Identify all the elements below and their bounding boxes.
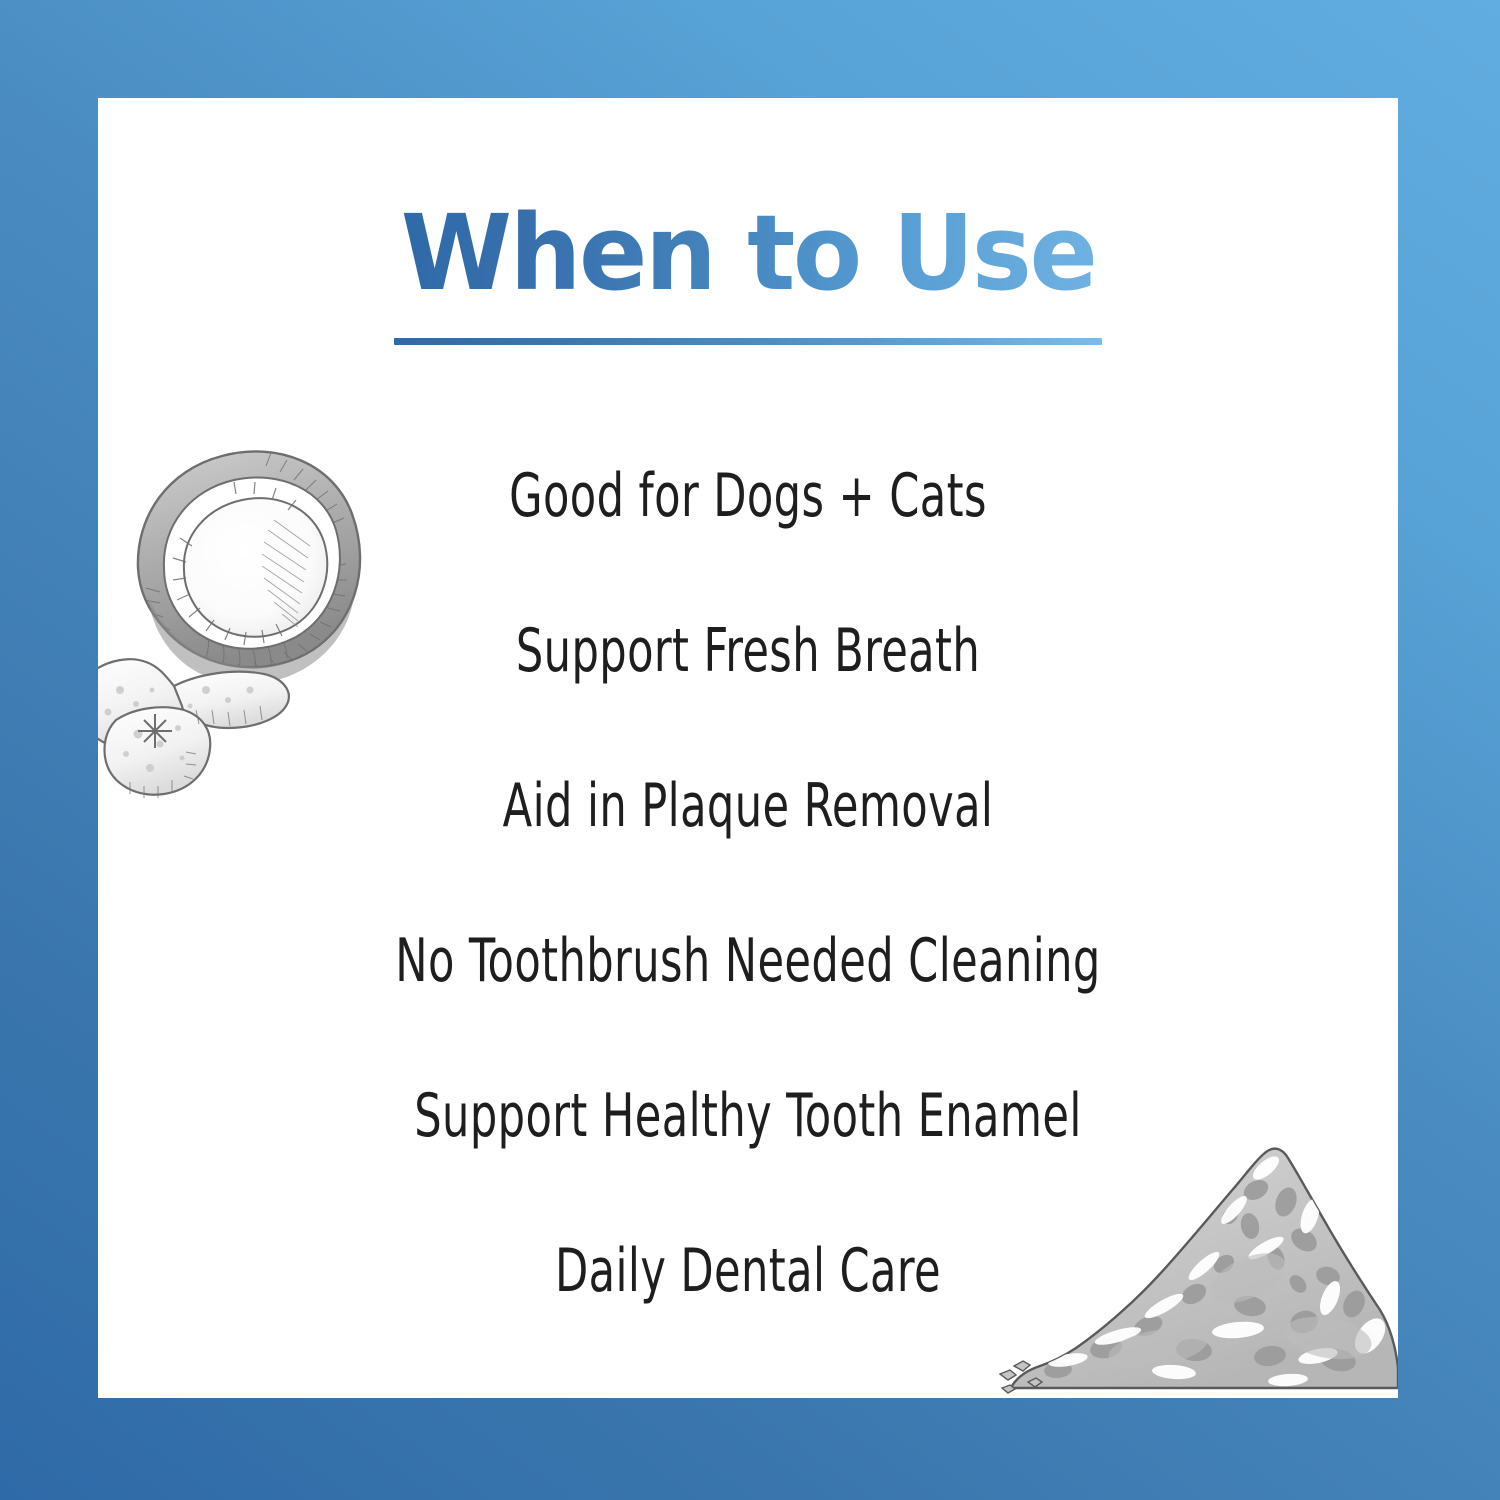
benefit-item-no-toothbrush-needed-cleaning: No Toothbrush Needed Cleaning [228, 883, 1268, 1038]
benefit-item-support-healthy-tooth-enamel: Support Healthy Tooth Enamel [228, 1038, 1268, 1193]
benefit-item-daily-dental-care: Daily Dental Care [228, 1193, 1268, 1348]
benefit-list: Good for Dogs + Cats Support Fresh Breat… [98, 418, 1398, 1348]
benefit-item-aid-in-plaque-removal: Aid in Plaque Removal [228, 728, 1268, 883]
title-underline-rule [394, 338, 1102, 345]
title-block: When to Use [98, 198, 1398, 345]
benefit-item-good-for-dogs-cats: Good for Dogs + Cats [228, 418, 1268, 573]
benefit-item-support-fresh-breath: Support Fresh Breath [228, 573, 1268, 728]
white-content-panel: When to Use Good for Dogs + Cats Support… [98, 98, 1398, 1398]
scattered-grains [1000, 1361, 1042, 1393]
page-title: When to Use [401, 198, 1096, 308]
poster-canvas: When to Use Good for Dogs + Cats Support… [0, 0, 1500, 1500]
